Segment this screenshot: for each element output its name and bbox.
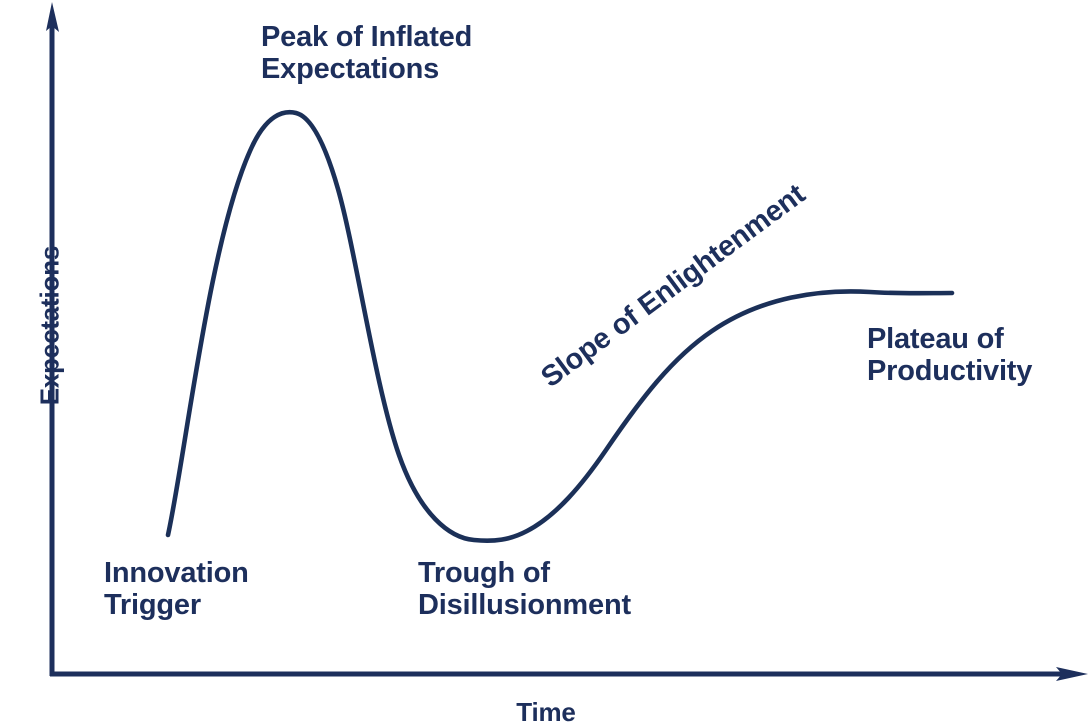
- hype-cycle-figure: Peak of Inflated Expectations Innovation…: [0, 0, 1092, 727]
- y-axis-label: Expectations: [35, 216, 64, 436]
- label-trough-of-disillusionment: Trough of Disillusionment: [418, 557, 631, 622]
- label-plateau-of-productivity: Plateau of Productivity: [867, 323, 1032, 388]
- label-peak-of-inflated-expectations: Peak of Inflated Expectations: [261, 21, 472, 86]
- label-innovation-trigger: Innovation Trigger: [104, 557, 249, 622]
- x-axis-label: Time: [0, 698, 1092, 727]
- hype-cycle-curve: [168, 112, 952, 541]
